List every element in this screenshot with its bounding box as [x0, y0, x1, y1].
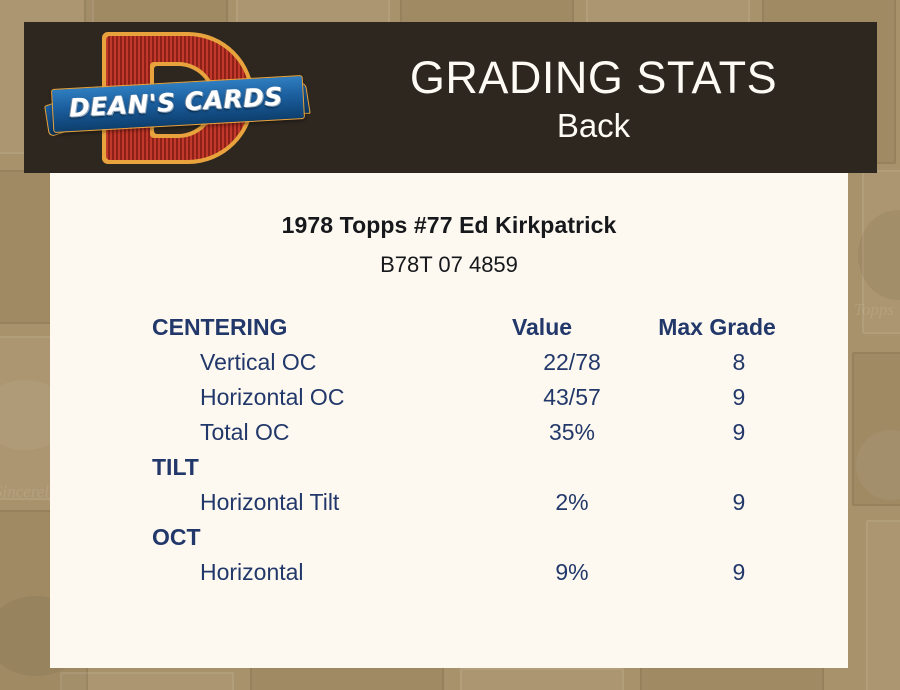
stats-row: Horizontal Tilt2%9: [152, 489, 820, 524]
stats-section-label: OCT: [152, 524, 452, 551]
stats-header-row: CENTERINGValueMax Grade: [152, 314, 820, 349]
header-titles: GRADING STATS Back: [310, 22, 877, 173]
stats-row-label: Horizontal Tilt: [152, 489, 486, 516]
stats-column-header-value: Value: [452, 314, 632, 341]
page-title: GRADING STATS: [410, 55, 777, 101]
stats-row-label: Horizontal: [152, 559, 486, 586]
grading-stats-table: CENTERINGValueMax GradeVertical OC22/788…: [50, 314, 848, 594]
stats-row-label: Horizontal OC: [152, 384, 486, 411]
stats-column-header-label: CENTERING: [152, 314, 452, 341]
stats-row: Horizontal OC43/579: [152, 384, 820, 419]
stats-column-header-grade: Max Grade: [632, 314, 802, 341]
stats-row-grade: 9: [658, 489, 820, 516]
stats-row-value: 43/57: [486, 384, 658, 411]
stats-row-label: Vertical OC: [152, 349, 486, 376]
stats-row: TILT: [152, 454, 820, 489]
stats-row-value: 22/78: [486, 349, 658, 376]
stats-row-grade: 8: [658, 349, 820, 376]
header-bar: DEAN'S CARDS GRADING STATS Back: [24, 22, 877, 173]
logo-banner-text: DEAN'S CARDS: [45, 75, 297, 131]
stats-row: Horizontal9%9: [152, 559, 820, 594]
stats-row-label: Total OC: [152, 419, 486, 446]
page-subtitle: Back: [557, 105, 630, 146]
stats-row: Total OC35%9: [152, 419, 820, 454]
card-title: 1978 Topps #77 Ed Kirkpatrick: [50, 212, 848, 239]
stats-row: Vertical OC22/788: [152, 349, 820, 384]
card-serial-number: B78T 07 4859: [50, 252, 848, 278]
stats-row-grade: 9: [658, 559, 820, 586]
stats-row-value: 35%: [486, 419, 658, 446]
deans-cards-logo: DEAN'S CARDS: [46, 28, 308, 168]
stats-row-value: 2%: [486, 489, 658, 516]
logo-ribbon-icon: DEAN'S CARDS: [46, 76, 308, 130]
stats-section-label: TILT: [152, 454, 452, 481]
stats-row-grade: 9: [658, 384, 820, 411]
stats-row-grade: 9: [658, 419, 820, 446]
stats-row: OCT: [152, 524, 820, 559]
content-panel: 1978 Topps #77 Ed Kirkpatrick B78T 07 48…: [50, 173, 848, 668]
stats-row-value: 9%: [486, 559, 658, 586]
